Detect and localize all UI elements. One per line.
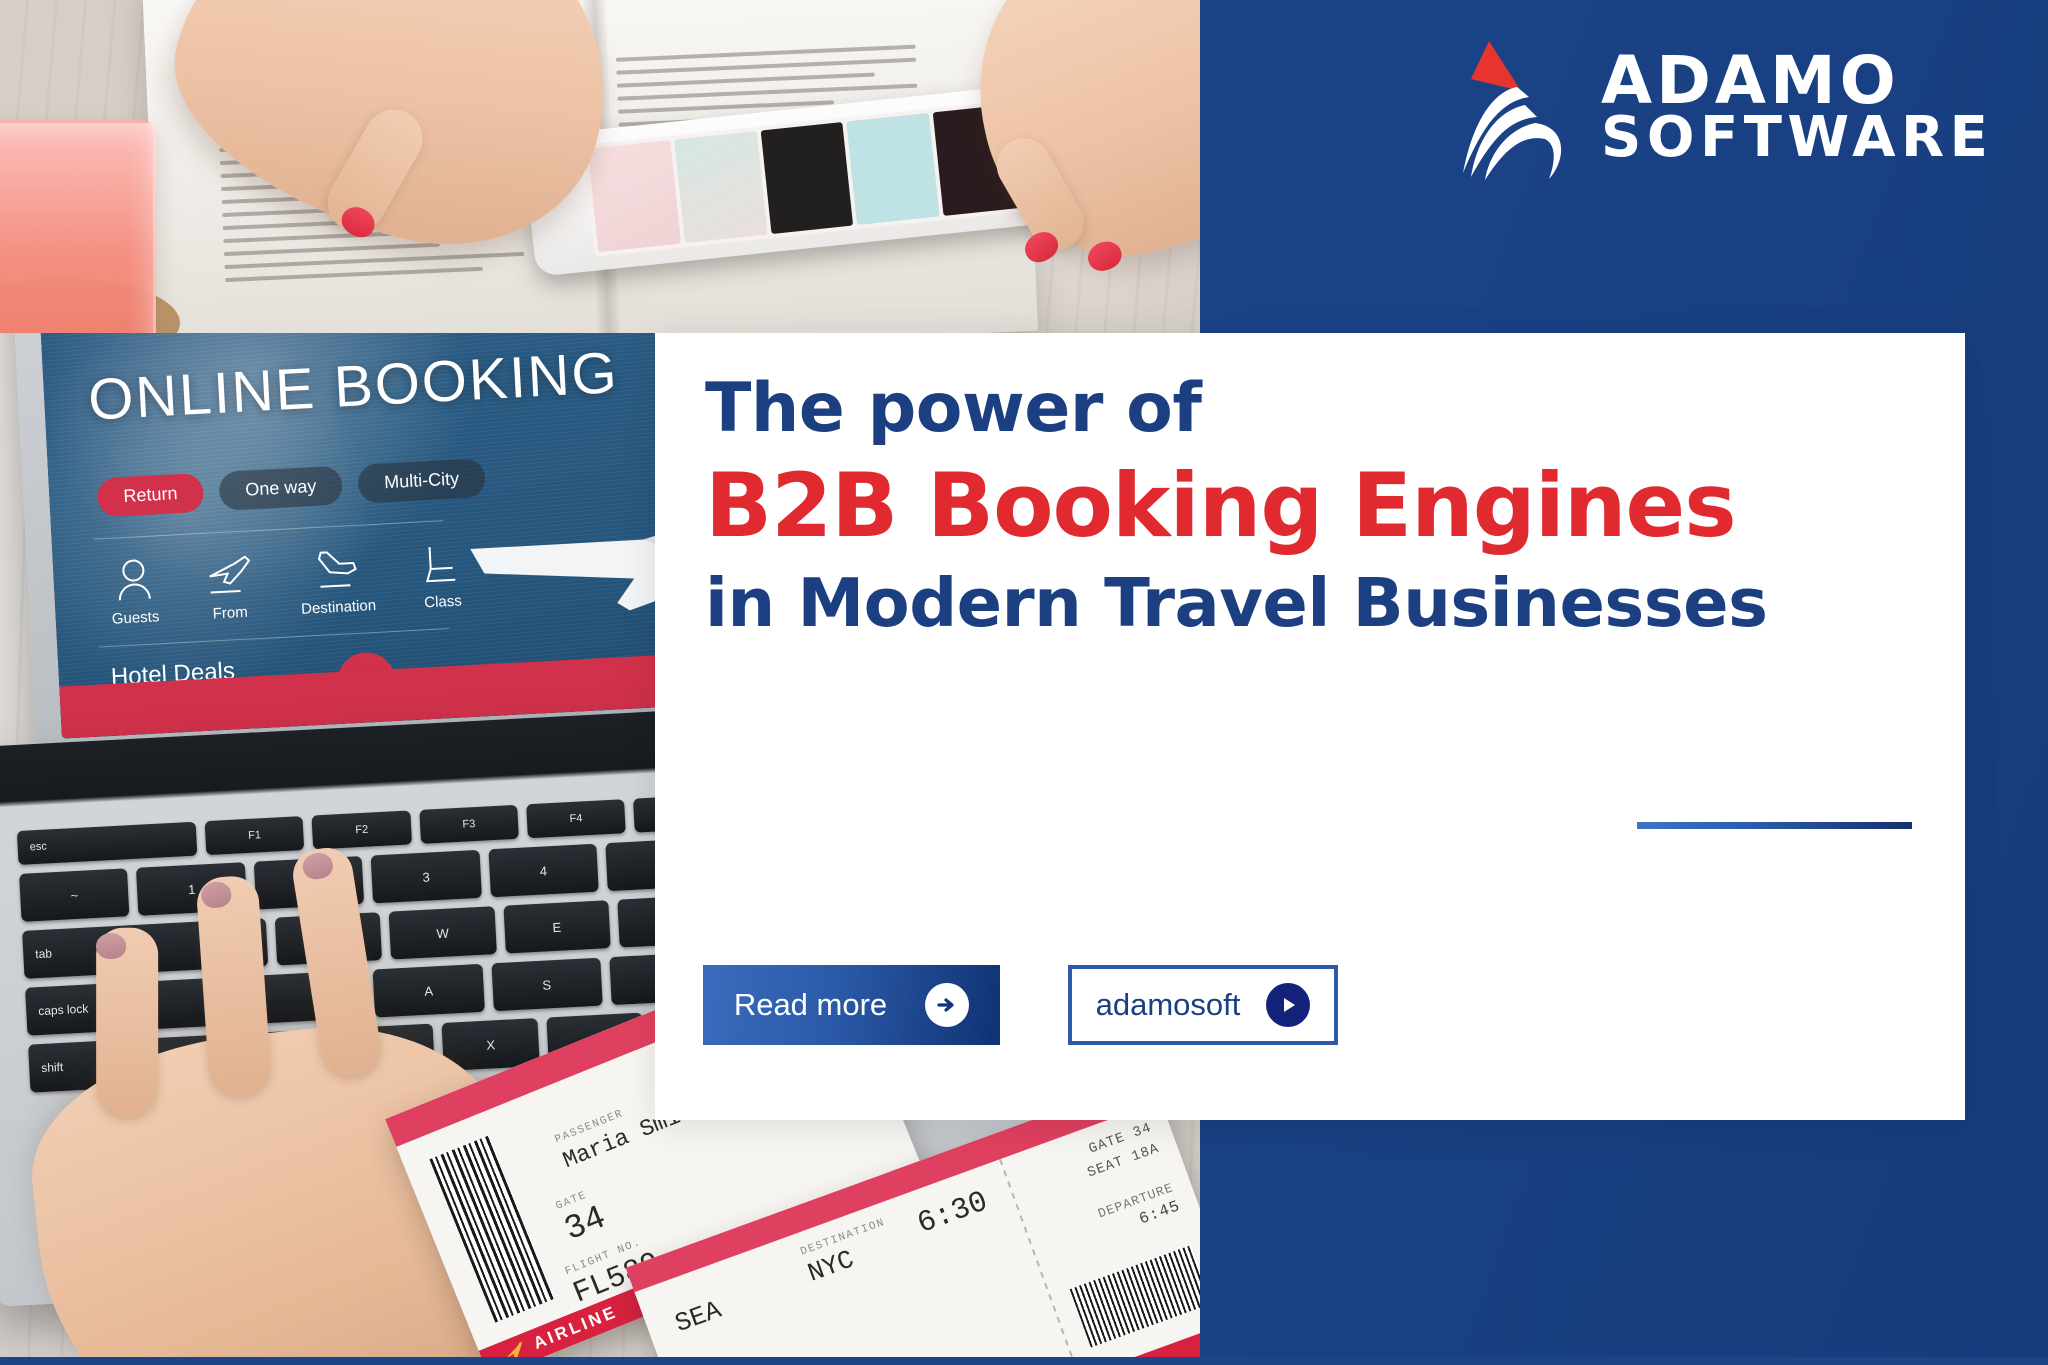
fingernail bbox=[96, 933, 126, 959]
adamosoft-button[interactable]: adamosoft bbox=[1068, 965, 1338, 1045]
tab-multi-city[interactable]: Multi-City bbox=[357, 458, 486, 504]
key-f4[interactable]: F4 bbox=[526, 799, 626, 838]
play-icon bbox=[1266, 983, 1310, 1027]
headline-line-3: in Modern Travel Businesses bbox=[705, 561, 1925, 647]
option-label: From bbox=[212, 604, 248, 623]
headline-line-2: B2B Booking Engines bbox=[705, 451, 1925, 561]
photo-hands-phone-magazine bbox=[0, 0, 1200, 333]
option-guests[interactable]: Guests bbox=[109, 557, 160, 627]
read-more-label: Read more bbox=[734, 987, 887, 1023]
content-card: The power of B2B Booking Engines in Mode… bbox=[655, 333, 1965, 1120]
option-label: Guests bbox=[111, 608, 159, 627]
plane-icon bbox=[501, 1340, 528, 1357]
seat-icon bbox=[421, 541, 461, 585]
logo-line-1: ADAMO bbox=[1601, 50, 1993, 112]
key-esc[interactable]: esc bbox=[17, 822, 198, 865]
origin-value: SEA bbox=[671, 1295, 725, 1339]
adamosoft-label: adamosoft bbox=[1096, 987, 1241, 1023]
option-from[interactable]: From bbox=[204, 552, 253, 622]
option-class[interactable]: Class bbox=[421, 541, 463, 611]
plane-takeoff-icon bbox=[204, 552, 252, 596]
phone-tile bbox=[588, 140, 681, 252]
cta-row: Read more adamosoft bbox=[703, 965, 1338, 1045]
phone-tile bbox=[674, 131, 767, 243]
finger bbox=[317, 99, 433, 242]
logo-wordmark: ADAMO SOFTWARE bbox=[1601, 50, 1993, 165]
bottom-blue-strip bbox=[0, 1357, 2048, 1365]
key-f1[interactable]: F1 bbox=[205, 816, 305, 855]
key-a[interactable]: A bbox=[373, 964, 484, 1018]
headline-block: The power of B2B Booking Engines in Mode… bbox=[705, 368, 1925, 647]
adamo-logo-mark-icon bbox=[1455, 35, 1575, 180]
key-tilde[interactable]: ~ bbox=[19, 868, 130, 922]
arrow-right-icon bbox=[925, 983, 969, 1027]
key-w[interactable]: W bbox=[389, 906, 497, 959]
logo-line-2: SOFTWARE bbox=[1601, 112, 1993, 165]
option-label: Class bbox=[424, 592, 462, 611]
key-3[interactable]: 3 bbox=[371, 850, 482, 904]
plane-landing-icon bbox=[313, 547, 361, 591]
phone-tile bbox=[760, 122, 853, 234]
drink-glass bbox=[0, 120, 156, 333]
key-f2[interactable]: F2 bbox=[312, 810, 412, 849]
phone-tile bbox=[847, 113, 940, 225]
option-destination[interactable]: Destination bbox=[298, 546, 377, 618]
key-4[interactable]: 4 bbox=[488, 844, 599, 898]
key-s[interactable]: S bbox=[491, 958, 602, 1012]
tab-return[interactable]: Return bbox=[96, 473, 204, 517]
headline-line-1: The power of bbox=[705, 368, 1925, 451]
ticket-perforation bbox=[999, 1159, 1080, 1357]
tab-one-way[interactable]: One way bbox=[218, 466, 343, 511]
read-more-button[interactable]: Read more bbox=[703, 965, 1000, 1045]
marketing-banner: Carrier 1:27 PM bbox=[0, 0, 2048, 1365]
key-f3[interactable]: F3 bbox=[419, 805, 519, 844]
key-e[interactable]: E bbox=[503, 900, 611, 953]
person-icon bbox=[114, 558, 154, 602]
ticket-stub-barcode bbox=[1070, 1245, 1200, 1348]
adamo-software-logo[interactable]: ADAMO SOFTWARE bbox=[1455, 35, 1993, 180]
time-value: 6:30 bbox=[913, 1185, 992, 1242]
accent-divider bbox=[1637, 822, 1912, 829]
